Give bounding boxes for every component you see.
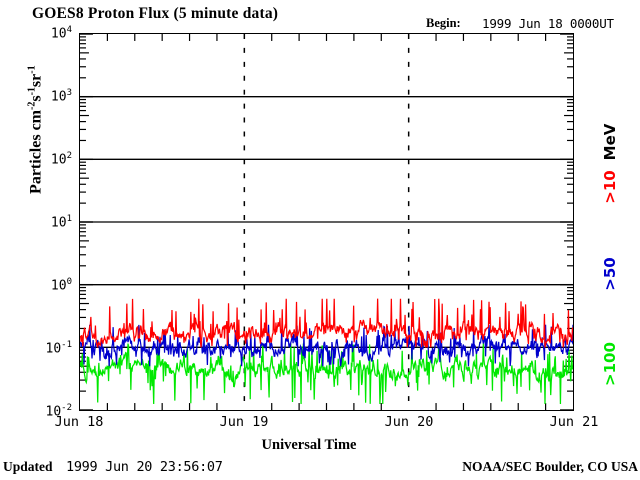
series-trace [80,325,573,367]
y-axis-title: Particles cm-2s-1sr-1 [26,10,45,250]
updated-value: 1999 Jun 20 23:56:07 [66,459,223,475]
footer: Updated 1999 Jun 20 23:56:07 NOAA/SEC Bo… [0,459,640,479]
y-axis-exp-2: -1 [26,87,37,95]
y-axis-title-mid: s [28,95,45,101]
y-tick-label: 10-1 [46,340,73,356]
plot-area [79,33,574,411]
legend-item-gt10: >10 [601,157,619,217]
y-axis-title-text: Particles cm [28,110,45,194]
x-tick-label: Jun 18 [55,414,104,430]
series-trace [80,299,573,348]
x-tick-label: Jun 21 [550,414,599,430]
begin-value: 1999 Jun 18 0000UT [482,16,614,31]
begin-label: Begin: [426,16,461,31]
y-tick-label: 101 [51,214,72,230]
y-tick-label: 103 [51,88,72,104]
credit-label: NOAA/SEC Boulder, CO USA [462,459,638,475]
y-tick-label: 100 [51,277,72,293]
y-tick-label: 102 [51,151,72,167]
page-title: GOES8 Proton Flux (5 minute data) [32,5,278,23]
legend-item-gt100: >100 [601,334,619,394]
x-tick-label: Jun 20 [385,414,434,430]
x-tick-label: Jun 19 [220,414,269,430]
plot-canvas [80,34,573,410]
y-tick-label: 104 [51,25,72,41]
y-axis-exp-3: -1 [26,65,37,73]
proton-flux-plot: GOES8 Proton Flux (5 minute data) Begin:… [0,0,640,480]
y-axis-title-mid2: sr [28,74,45,87]
y-axis-exp-1: -2 [26,102,37,110]
x-axis-title: Universal Time [0,437,640,454]
legend-item-gt50: >50 [601,244,619,304]
x-axis-title-text: Universal Time [262,437,357,454]
updated-label: Updated [3,459,53,475]
x-axis-tick-labels: Jun 18Jun 19Jun 20Jun 21 [0,414,640,434]
